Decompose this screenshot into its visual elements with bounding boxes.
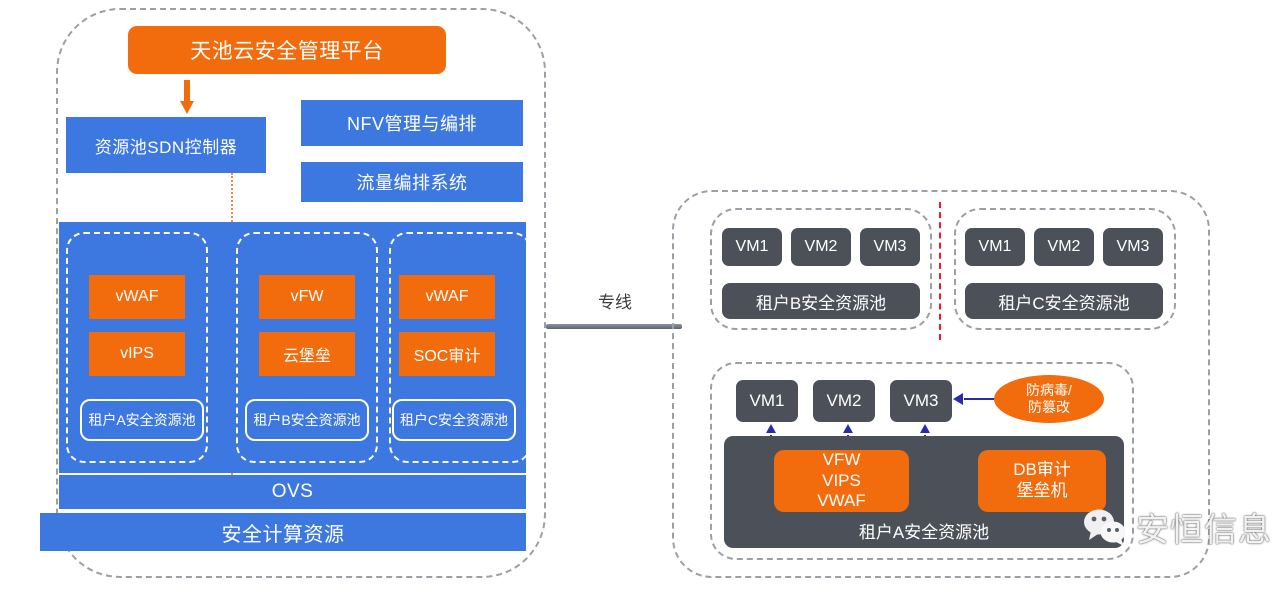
left-tenant-b-pool-label: 租户B安全资源池 xyxy=(245,399,369,441)
left-tenant-a-service-1[interactable]: vWAF xyxy=(89,275,185,319)
watermark-text: 安恒信息 xyxy=(1136,503,1272,551)
ovs-box[interactable]: OVS xyxy=(59,475,526,509)
antivirus-line-1: 防病毒/ xyxy=(1026,382,1072,400)
tenant-a-security-stack-box[interactable]: VFW VIPS VWAF xyxy=(774,450,909,512)
right-tenant-c-vm-1[interactable]: VM1 xyxy=(965,228,1025,266)
right-tenant-c-vm-3[interactable]: VM3 xyxy=(1103,228,1163,266)
right-tenant-a-vm-1[interactable]: VM1 xyxy=(736,380,798,422)
dedicated-line-connector xyxy=(546,324,682,329)
security-stack-line-1: VFW xyxy=(823,450,861,471)
right-tenant-c-vm-2[interactable]: VM2 xyxy=(1034,228,1094,266)
antivirus-line-2: 防篡改 xyxy=(1028,399,1070,417)
right-tenant-a-vm-2[interactable]: VM2 xyxy=(813,380,875,422)
right-tenant-b-pool-label: 租户B安全资源池 xyxy=(722,283,920,319)
sdn-controller-box[interactable]: 资源池SDN控制器 xyxy=(66,117,266,173)
left-tenant-b-service-1[interactable]: vFW xyxy=(259,275,355,319)
right-tenant-b-vm-2[interactable]: VM2 xyxy=(791,228,851,266)
antivirus-tamperproof-ellipse[interactable]: 防病毒/ 防篡改 xyxy=(994,375,1104,423)
arrow-down-icon xyxy=(180,80,194,114)
right-tenant-b-vm-1[interactable]: VM1 xyxy=(722,228,782,266)
platform-title-box[interactable]: 天池云安全管理平台 xyxy=(128,26,446,74)
diagram-canvas: 天池云安全管理平台 资源池SDN控制器 NFV管理与编排 流量编排系统 vWAF… xyxy=(0,0,1280,594)
security-stack-line-2: VIPS xyxy=(822,471,861,492)
dedicated-line-label: 专线 xyxy=(570,288,660,313)
left-tenant-c-service-1[interactable]: vWAF xyxy=(399,275,495,319)
arrow-left-icon xyxy=(952,392,1000,406)
nfv-orchestration-box[interactable]: NFV管理与编排 xyxy=(301,100,523,146)
db-audit-line-2: 堡垒机 xyxy=(1017,481,1068,502)
left-tenant-a-pool-label: 租户A安全资源池 xyxy=(80,399,204,441)
left-tenant-c-pool-label: 租户C安全资源池 xyxy=(392,399,516,441)
db-audit-line-1: DB审计 xyxy=(1013,460,1071,481)
compute-resource-box[interactable]: 安全计算资源 xyxy=(40,513,526,551)
security-stack-line-3: VWAF xyxy=(817,491,865,512)
left-tenant-c-service-2[interactable]: SOC审计 xyxy=(399,332,495,376)
watermark: 安恒信息 xyxy=(1082,496,1278,558)
left-tenant-a-service-2[interactable]: vIPS xyxy=(89,332,185,376)
antivirus-to-vm3-arrow-icon xyxy=(952,392,1000,411)
platform-to-sdn-arrow-icon xyxy=(180,80,194,114)
right-tenant-b-vm-3[interactable]: VM3 xyxy=(860,228,920,266)
right-tenant-a-pool-label: 租户A安全资源池 xyxy=(724,518,1124,543)
wechat-icon xyxy=(1082,507,1128,547)
sdn-dotted-connector-top xyxy=(231,173,233,225)
right-tenant-a-vm-3[interactable]: VM3 xyxy=(890,380,952,422)
traffic-orchestration-box[interactable]: 流量编排系统 xyxy=(301,162,523,202)
tenant-isolation-divider xyxy=(939,202,941,340)
right-tenant-c-pool-label: 租户C安全资源池 xyxy=(965,283,1163,319)
wechat-glyph xyxy=(1082,507,1128,547)
left-tenant-b-service-2[interactable]: 云堡垒 xyxy=(259,332,355,376)
